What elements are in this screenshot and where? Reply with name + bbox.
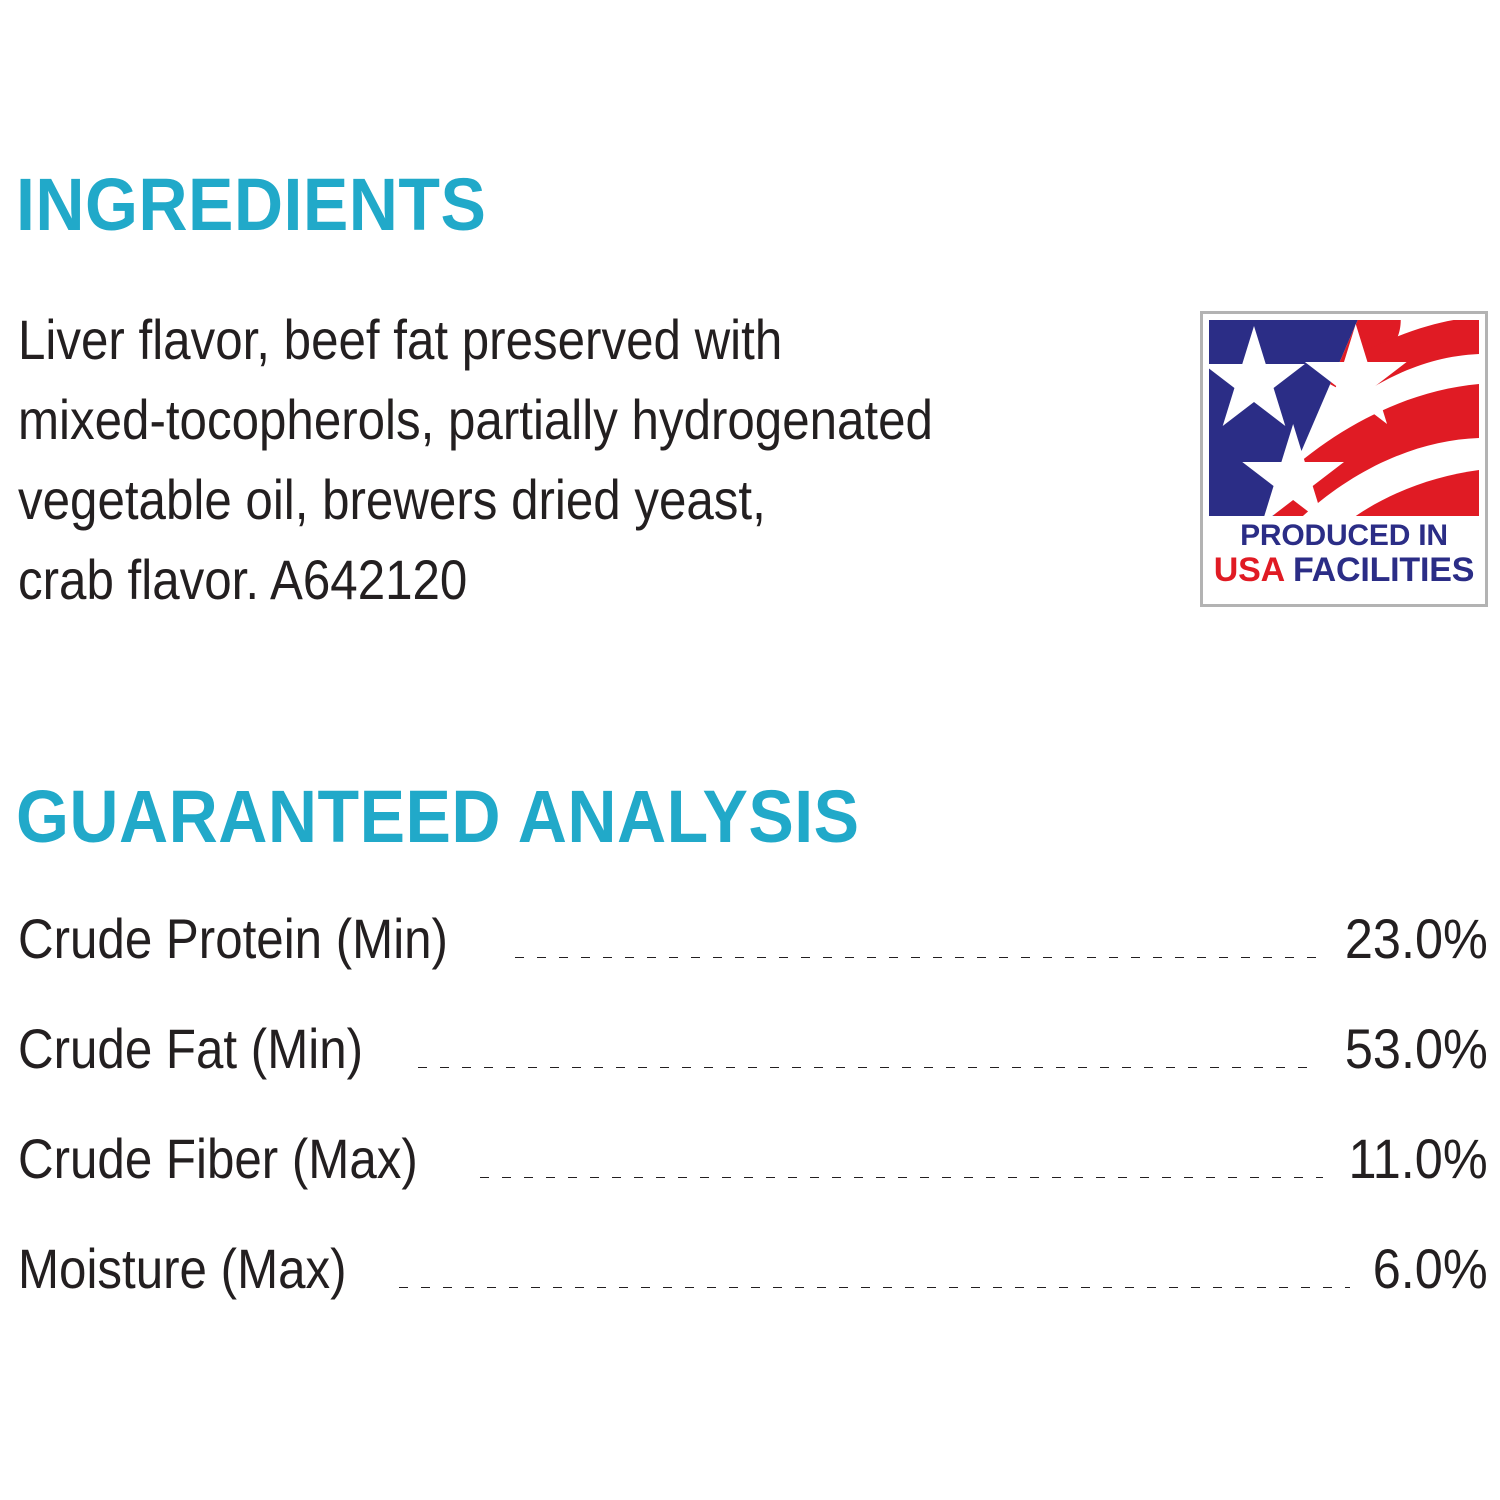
nutrient-label: Crude Protein (Min) <box>18 908 453 970</box>
nutrient-label: Moisture (Max) <box>18 1238 352 1300</box>
table-row: Moisture (Max) 6.0% <box>18 1238 1488 1348</box>
usa-flag-icon <box>1209 320 1479 516</box>
dot-leader <box>515 957 1320 958</box>
produced-in-usa-badge: PRODUCED IN USA FACILITIES <box>1200 311 1488 607</box>
dot-leader <box>399 1287 1350 1288</box>
nutrient-label: Crude Fiber (Max) <box>18 1128 423 1190</box>
nutrient-label: Crude Fat (Min) <box>18 1018 368 1080</box>
badge-line-produced-in: PRODUCED IN <box>1209 518 1479 553</box>
dot-leader <box>418 1067 1319 1068</box>
guaranteed-analysis-table: Crude Protein (Min) 23.0% Crude Fat (Min… <box>18 908 1488 1348</box>
table-row: Crude Protein (Min) 23.0% <box>18 908 1488 1018</box>
badge-word-facilities: FACILITIES <box>1293 551 1474 589</box>
dot-leader <box>480 1177 1323 1178</box>
table-row: Crude Fiber (Max) 11.0% <box>18 1128 1488 1238</box>
nutrient-value: 6.0% <box>1373 1238 1488 1300</box>
nutrient-value: 53.0% <box>1345 1018 1488 1080</box>
ingredients-line: Liver flavor, beef fat preserved with <box>18 300 1021 380</box>
ingredients-heading: INGREDIENTS <box>16 166 486 244</box>
ingredients-line: crab flavor. A642120 <box>18 540 1021 620</box>
badge-word-usa: USA <box>1214 551 1284 589</box>
nutrient-value: 23.0% <box>1345 908 1488 970</box>
badge-caption: PRODUCED IN USA FACILITIES <box>1209 516 1479 592</box>
nutrient-value: 11.0% <box>1349 1128 1488 1190</box>
guaranteed-analysis-heading: GUARANTEED ANALYSIS <box>16 778 859 856</box>
table-row: Crude Fat (Min) 53.0% <box>18 1018 1488 1128</box>
product-label-panel: INGREDIENTS Liver flavor, beef fat prese… <box>0 0 1500 1500</box>
ingredients-line: mixed-tocopherols, partially hydrogenate… <box>18 380 1021 460</box>
badge-line-usa-facilities: USA FACILITIES <box>1209 553 1479 588</box>
ingredients-line: vegetable oil, brewers dried yeast, <box>18 460 1021 540</box>
ingredients-text: Liver flavor, beef fat preserved with mi… <box>18 300 1021 620</box>
